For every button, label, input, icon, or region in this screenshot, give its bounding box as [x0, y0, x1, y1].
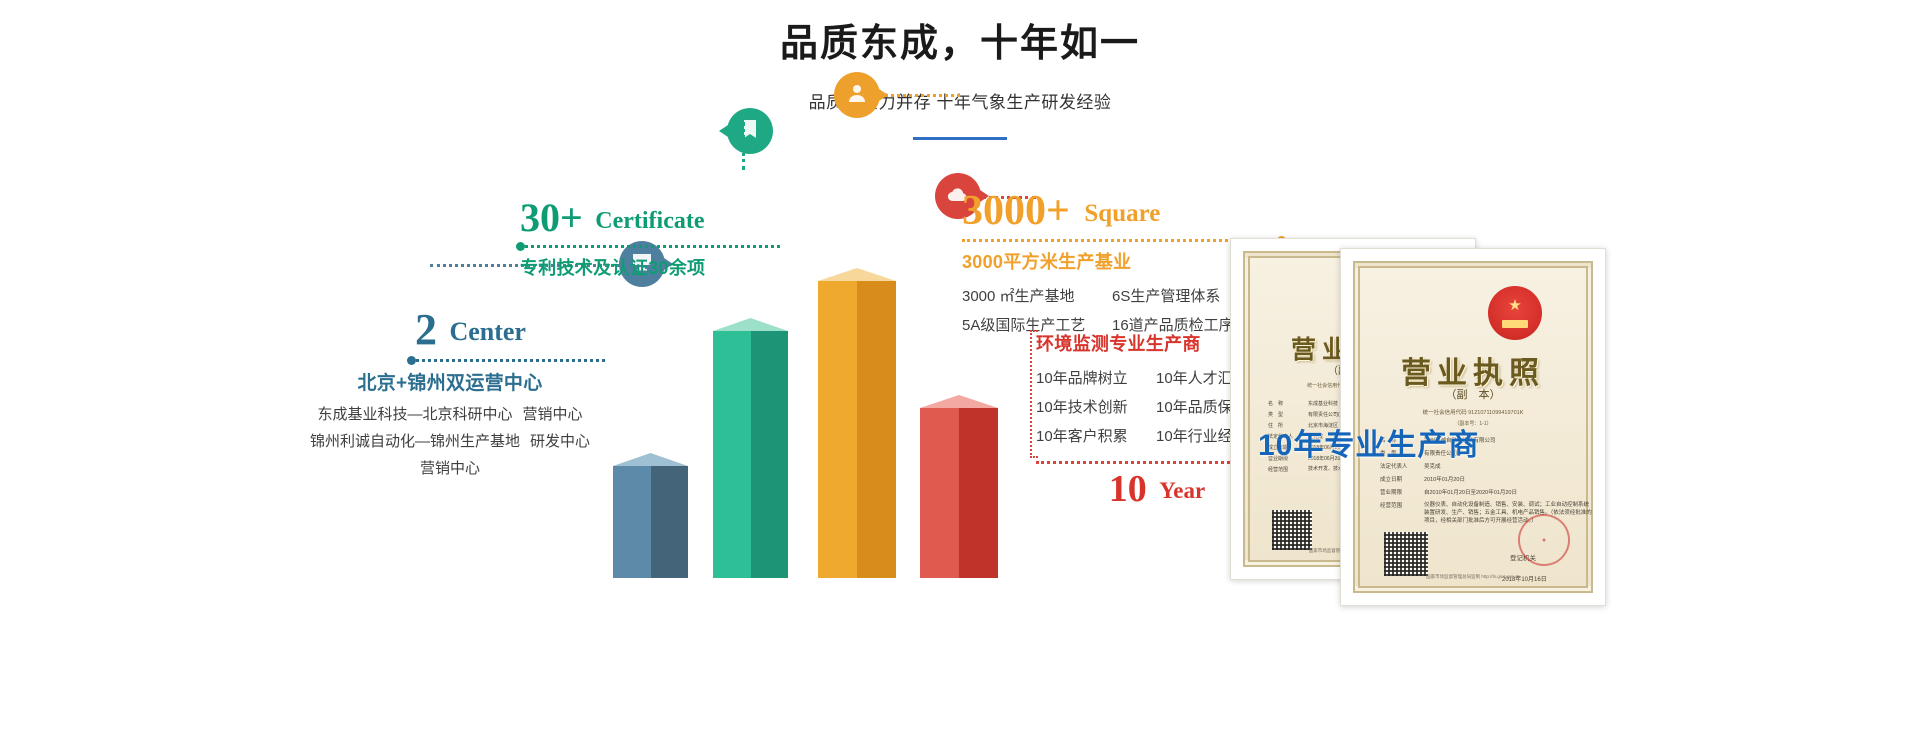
page-title: 品质东成，十年如一	[0, 22, 1920, 68]
bar-year	[920, 395, 998, 578]
stat-certificate-word: Certificate	[595, 208, 704, 234]
stat-center-cell: 研发中心	[530, 428, 590, 455]
stat-certificate: 30+ Certificate 专利技术及认证30余项	[520, 198, 780, 280]
field-label: 经营范围	[1268, 466, 1302, 473]
field-value: 仪器仪表、自动化设备制造、销售、安装、调试；工业自动控制系统装置研发、生产、销售…	[1424, 501, 1592, 525]
certificate-back-qr-code	[1272, 510, 1312, 550]
stat-center-word: Center	[449, 317, 526, 346]
field-value: 2010年01月20日	[1424, 475, 1465, 483]
certificate-front-subtitle: （副 本）	[1360, 386, 1586, 402]
stat-center-rows: 东成基业科技—北京科研中心 营销中心 锦州利诚自动化—锦州生产基地 研发中心 营…	[295, 401, 605, 482]
field-value: 自2010年01月20日至2020年01月20日	[1424, 488, 1517, 496]
bar-center	[613, 453, 688, 578]
connector-square	[878, 94, 960, 97]
stat-square-word: Square	[1084, 200, 1160, 227]
stat-year-word: Year	[1159, 478, 1205, 503]
certificate-front-footer: 国家市场监督管理总局监制 http://ln.gsxt.gov.cn	[1360, 574, 1586, 580]
stat-year-number: 10	[1109, 468, 1147, 510]
stat-center-number: 2	[415, 305, 437, 354]
stat-center: 2 Center 北京+锦州双运营中心 东成基业科技—北京科研中心 营销中心 锦…	[295, 308, 605, 482]
certificate-front-qr-code	[1384, 532, 1428, 576]
stat-center-cell: 东成基业科技—北京科研中心	[317, 401, 512, 428]
certificates-overlay-label: 10年专业生产商	[1258, 420, 1479, 464]
stat-square-cell: 3000 ㎡生产基地	[962, 282, 1112, 311]
field-label: 成立日期	[1380, 475, 1416, 483]
bar-certificate	[713, 318, 788, 578]
stat-center-rule	[411, 359, 605, 362]
national-emblem-icon: ★	[1488, 286, 1542, 340]
stat-square-number: 3000+	[962, 188, 1070, 234]
stat-center-cell: 锦州利诚自动化—锦州生产基地	[310, 428, 520, 455]
field-label: 营业期限	[1380, 488, 1416, 496]
stat-year-cell: 10年品牌树立	[1036, 364, 1156, 393]
stat-center-cell: 营销中心	[523, 401, 583, 428]
connector-certificate	[742, 122, 745, 170]
stat-certificate-number: 30+	[520, 195, 583, 240]
page-root: 品质东成，十年如一 品质与实力并存 十年气象生产研发经验	[0, 0, 1920, 747]
certificate-front-code: 统一社会信用代码 91210711099419701K	[1360, 408, 1586, 416]
field-label: 经营范围	[1380, 501, 1416, 509]
stat-certificate-rule	[520, 245, 780, 248]
stat-year-cell: 10年技术创新	[1036, 393, 1156, 422]
stat-square-cell: 6S生产管理体系	[1112, 282, 1220, 311]
bar-square	[818, 268, 896, 578]
stat-center-cell: 营销中心	[420, 455, 480, 482]
stat-year-cell: 10年客户积累	[1036, 422, 1156, 451]
stat-certificate-heading: 专利技术及认证30余项	[520, 254, 780, 280]
user-badge	[834, 72, 880, 118]
stat-center-heading: 北京+锦州双运营中心	[295, 368, 605, 395]
field-label: 名 称	[1268, 400, 1302, 407]
page-subtitle: 品质与实力并存 十年气象生产研发经验	[0, 88, 1920, 113]
user-icon	[845, 81, 869, 110]
title-divider	[913, 137, 1007, 140]
field-label: 类 型	[1268, 411, 1302, 418]
page-header: 品质东成，十年如一 品质与实力并存 十年气象生产研发经验	[0, 0, 1920, 140]
book-badge	[727, 108, 773, 154]
